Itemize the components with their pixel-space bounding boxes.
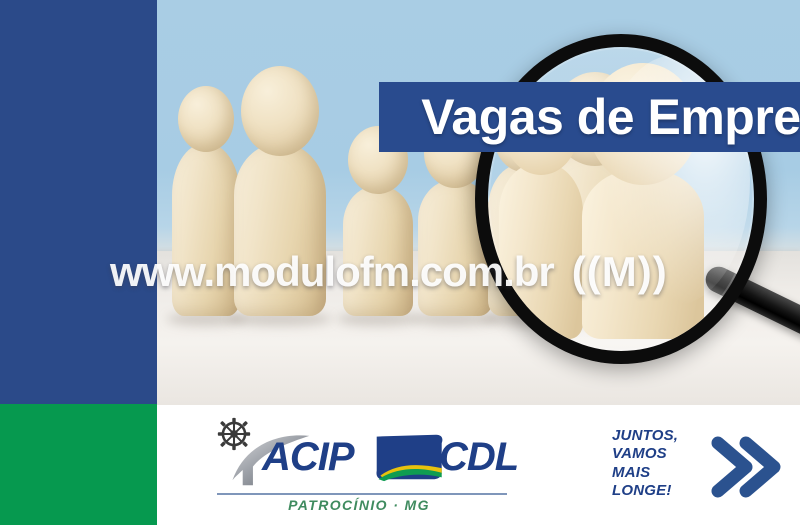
poster-root: Vagas de Emprego www.modulofm.com.br ((M… bbox=[0, 0, 800, 525]
headline-banner: Vagas de Emprego bbox=[379, 82, 800, 152]
slogan-block: JUNTOS, VAMOS MAIS LONGE! bbox=[612, 425, 787, 507]
peg-head bbox=[241, 66, 319, 156]
left-color-rail bbox=[0, 0, 157, 525]
peg-body bbox=[172, 144, 240, 316]
slogan-line-3: MAIS bbox=[612, 464, 678, 482]
headline-text: Vagas de Emprego bbox=[421, 92, 800, 142]
rail-green-block bbox=[0, 404, 157, 525]
hero-photo: Vagas de Emprego bbox=[157, 0, 800, 405]
acip-cdl-logo: ACIP CDL PATROCÍNIO · MG bbox=[209, 415, 509, 515]
logo-city-label: PATROCÍNIO · MG bbox=[209, 497, 509, 513]
footer-bar: ACIP CDL PATROCÍNIO · MG JUNTOS, VAMOS M… bbox=[157, 405, 800, 525]
logo-divider bbox=[217, 493, 507, 495]
chevron-right-icon bbox=[728, 431, 800, 503]
peg-body bbox=[234, 144, 326, 316]
wooden-peg-figure bbox=[232, 66, 328, 316]
cdl-wordmark: CDL bbox=[439, 437, 518, 477]
slogan-line-2: VAMOS bbox=[612, 445, 678, 463]
wooden-peg-figure bbox=[171, 86, 241, 316]
slogan-line-4: LONGE! bbox=[612, 482, 678, 500]
rail-blue-block bbox=[0, 0, 157, 404]
peg-head bbox=[178, 86, 234, 152]
wooden-peg-figure bbox=[342, 126, 414, 316]
peg-body bbox=[343, 186, 413, 316]
slogan-line-1: JUNTOS, bbox=[612, 427, 678, 445]
slogan-text: JUNTOS, VAMOS MAIS LONGE! bbox=[612, 427, 678, 500]
acip-wordmark: ACIP bbox=[262, 437, 354, 477]
peg-body bbox=[499, 163, 583, 339]
